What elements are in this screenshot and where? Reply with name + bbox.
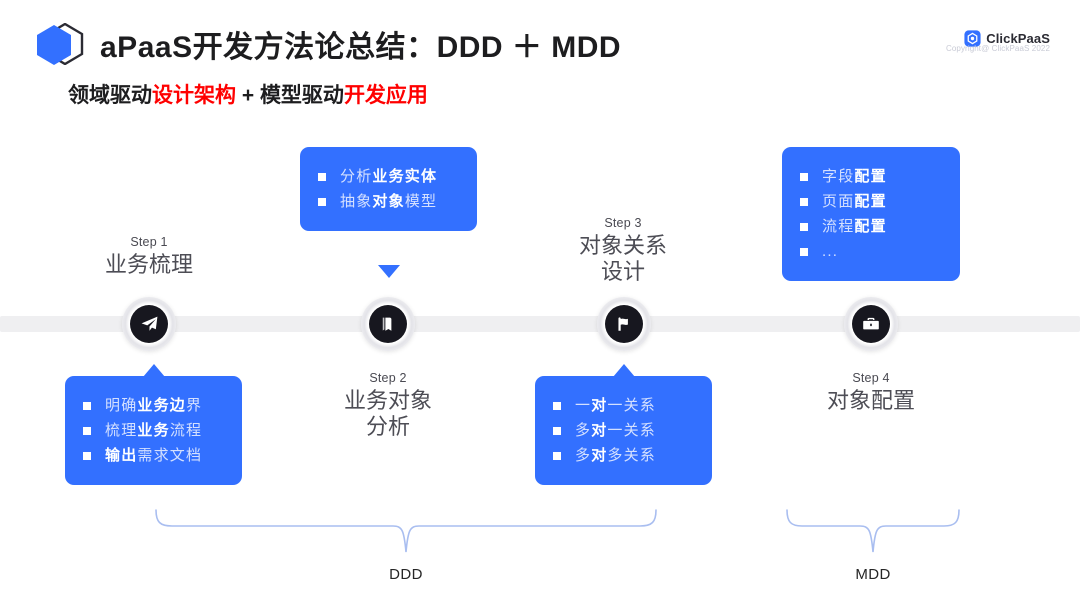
list-item: 页面配置 (800, 189, 944, 214)
bullet-square-icon (800, 223, 808, 231)
callout-list-1: 明确业务边界 梳理业务流程 输出需求文档 (83, 393, 226, 468)
callout-box-1: 明确业务边界 梳理业务流程 输出需求文档 (65, 376, 242, 485)
bullet-square-icon (800, 173, 808, 181)
step-caption-4: Step 4 对象配置 (786, 371, 956, 414)
step-title-line-2: 分析 (303, 414, 473, 440)
brand-watermark: ClickPaaS Copyright@ ClickPaaS 2022 (946, 30, 1050, 53)
item-strong: 配置 (854, 218, 886, 235)
item-soft-b: 一关系 (607, 397, 656, 414)
list-item: 多对一关系 (553, 418, 696, 443)
callout-list-2: 分析业务实体 抽象对象模型 (318, 164, 461, 214)
item-soft-a: ... (822, 243, 838, 260)
group-brace-ddd (150, 508, 662, 560)
timeline-node-4[interactable] (844, 297, 898, 351)
list-item: 多对多关系 (553, 443, 696, 468)
item-strong: 配置 (854, 168, 886, 185)
group-label-mdd: MDD (803, 566, 943, 583)
bullet-square-icon (553, 402, 561, 410)
item-soft-b: 模型 (405, 193, 437, 210)
item-soft-a: 字段 (822, 168, 854, 185)
item-soft-b: 界 (186, 397, 202, 414)
list-item: 流程配置 (800, 214, 944, 239)
step-title-line-2: 设计 (538, 259, 708, 285)
item-soft-b: 多关系 (607, 447, 656, 464)
step-label-3: Step 3 (538, 216, 708, 230)
item-strong: 输出 (105, 447, 137, 464)
step-label-1: Step 1 (64, 235, 234, 249)
callout-box-2: 分析业务实体 抽象对象模型 (300, 147, 477, 231)
step-title-1: 业务梳理 (64, 252, 234, 278)
slide-canvas: aPaaS开发方法论总结：DDD ＋ MDD 领域驱动设计架构 + 模型驱动开发… (0, 0, 1080, 608)
brand-copyright: Copyright@ ClickPaaS 2022 (946, 44, 1050, 53)
bullet-square-icon (553, 452, 561, 460)
list-item: 抽象对象模型 (318, 189, 461, 214)
step-title-4: 对象配置 (786, 388, 956, 414)
page-title: aPaaS开发方法论总结：DDD ＋ MDD (100, 22, 621, 66)
list-item: ... (800, 239, 944, 264)
callout-box-4: 字段配置 页面配置 流程配置 ... (782, 147, 960, 281)
paper-plane-icon (130, 305, 168, 343)
step-title-3: 对象关系 设计 (538, 233, 708, 285)
callout-list-3: 一对一关系 多对一关系 多对多关系 (553, 393, 696, 468)
subtitle-highlight-2: 开发应用 (344, 84, 428, 107)
bullet-square-icon (318, 198, 326, 206)
step-caption-2: Step 2 业务对象 分析 (303, 371, 473, 440)
list-item: 输出需求文档 (83, 443, 226, 468)
item-strong: 对 (591, 447, 607, 464)
bullet-square-icon (83, 402, 91, 410)
step-title-2: 业务对象 分析 (303, 388, 473, 440)
item-strong: 业务边 (137, 397, 186, 414)
item-soft-b: 需求文档 (137, 447, 202, 464)
item-strong: 对 (591, 422, 607, 439)
item-strong: 业务 (137, 422, 169, 439)
list-item: 分析业务实体 (318, 164, 461, 189)
item-soft-a: 多 (575, 447, 591, 464)
bullet-square-icon (800, 248, 808, 256)
callout-arrow-4 (860, 268, 882, 281)
step-label-2: Step 2 (303, 371, 473, 385)
item-soft-a: 分析 (340, 168, 372, 185)
subtitle-connector: + (236, 84, 260, 107)
list-item: 一对一关系 (553, 393, 696, 418)
item-soft-a: 页面 (822, 193, 854, 210)
item-strong: 对 (591, 397, 607, 414)
item-soft-a: 多 (575, 422, 591, 439)
flag-icon (605, 305, 643, 343)
callout-list-4: 字段配置 页面配置 流程配置 ... (800, 164, 944, 264)
step-title-line-1: 对象关系 (538, 233, 708, 259)
item-soft-a: 明确 (105, 397, 137, 414)
step-title-line-1: 业务对象 (303, 388, 473, 414)
bullet-square-icon (318, 173, 326, 181)
item-soft-a: 一 (575, 397, 591, 414)
bullet-square-icon (83, 452, 91, 460)
item-strong: 对象 (372, 193, 404, 210)
group-label-ddd: DDD (336, 566, 476, 583)
item-strong: 业务实体 (372, 168, 437, 185)
timeline-node-2[interactable] (361, 297, 415, 351)
group-brace-mdd (782, 508, 964, 560)
callout-arrow-2 (378, 265, 400, 278)
item-soft-b: 一关系 (607, 422, 656, 439)
item-soft-b: 流程 (170, 422, 202, 439)
list-item: 明确业务边界 (83, 393, 226, 418)
subtitle-part-1: 领域驱动 (68, 84, 152, 107)
briefcase-icon (852, 305, 890, 343)
item-soft-a: 梳理 (105, 422, 137, 439)
timeline-node-1[interactable] (122, 297, 176, 351)
list-item: 字段配置 (800, 164, 944, 189)
item-strong: 配置 (854, 193, 886, 210)
item-soft-a: 抽象 (340, 193, 372, 210)
page-subtitle: 领域驱动设计架构 + 模型驱动开发应用 (68, 79, 428, 109)
hexagon-fill-icon (35, 24, 73, 66)
bullet-square-icon (553, 427, 561, 435)
step-label-4: Step 4 (786, 371, 956, 385)
step-caption-3: Step 3 对象关系 设计 (538, 216, 708, 285)
hexagon-logo-icon (34, 22, 90, 66)
item-soft-a: 流程 (822, 218, 854, 235)
bullet-square-icon (800, 198, 808, 206)
timeline-node-3[interactable] (597, 297, 651, 351)
subtitle-highlight-1: 设计架构 (152, 84, 236, 107)
step-caption-1: Step 1 业务梳理 (64, 235, 234, 278)
book-icon (369, 305, 407, 343)
subtitle-part-2: 模型驱动 (260, 84, 344, 107)
list-item: 梳理业务流程 (83, 418, 226, 443)
bullet-square-icon (83, 427, 91, 435)
callout-box-3: 一对一关系 多对一关系 多对多关系 (535, 376, 712, 485)
